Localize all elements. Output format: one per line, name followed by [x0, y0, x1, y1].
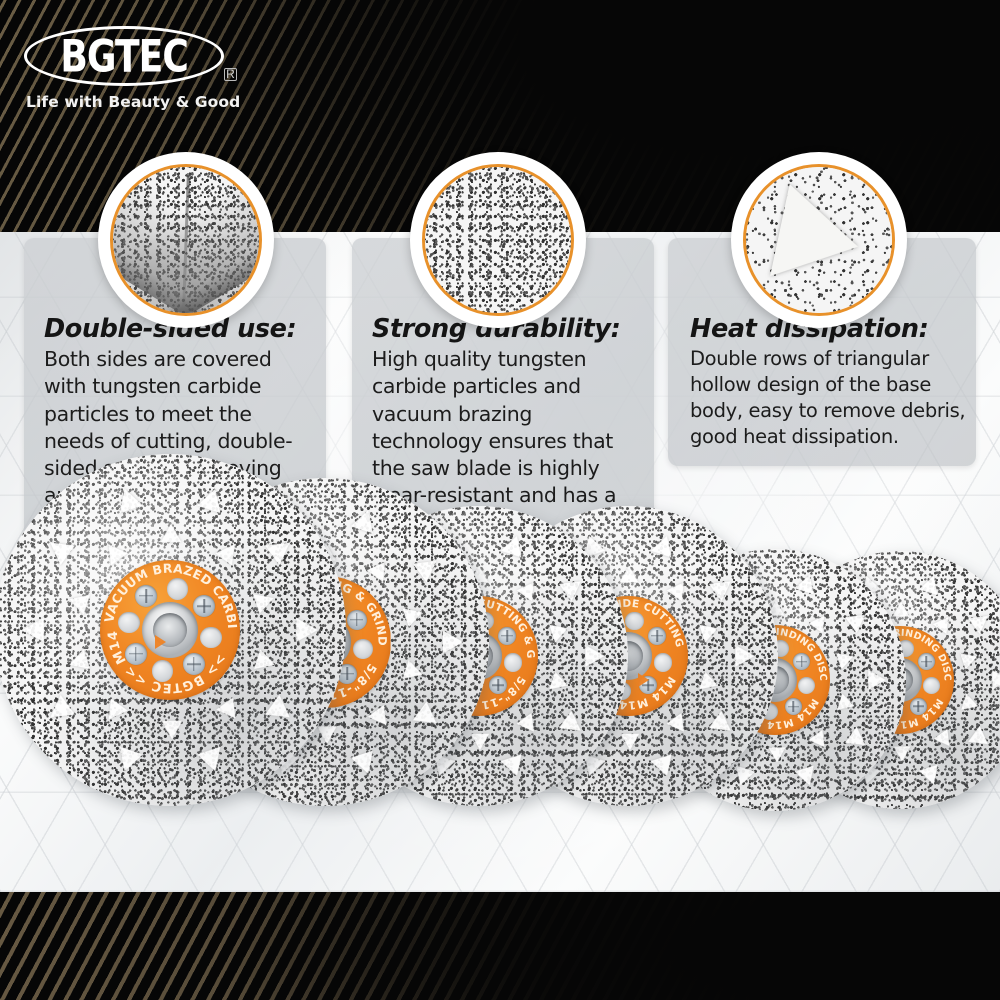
triangular-vent — [296, 618, 318, 642]
triangular-vent — [735, 645, 754, 667]
brand-logo: BGTEC R Life with Beauty & Good — [24, 26, 244, 111]
hub-screw — [347, 610, 367, 630]
hub-screw — [125, 643, 147, 665]
triangular-vent — [22, 618, 44, 642]
triangular-vent — [585, 645, 604, 667]
disc-5in-m14: VACUUM BRAZED CARBIDE CUTTING & GRINDING… — [0, 454, 346, 806]
rotation-direction-arrow-icon — [638, 673, 649, 687]
triangular-vent — [894, 746, 911, 761]
closeup-ring — [743, 164, 895, 316]
hub-screw — [918, 653, 935, 670]
infographic-canvas: BGTEC R Life with Beauty & Good Double-s… — [0, 0, 1000, 1000]
arbor-bore-flange — [142, 602, 198, 658]
logo-ellipse-frame: BGTEC R — [24, 26, 224, 86]
closeup-double-sided-blade-edges — [98, 152, 274, 328]
footer-band — [0, 892, 1000, 1000]
hub-vent-hole — [504, 653, 523, 672]
triangular-vent — [893, 602, 910, 617]
hub-vent-hole — [152, 660, 174, 682]
brand-tagline: Life with Beauty & Good — [26, 93, 244, 111]
triangular-vent — [161, 524, 182, 542]
triangular-vent — [317, 727, 337, 745]
hub-vent-hole — [923, 677, 940, 694]
triangular-vent — [443, 630, 464, 653]
triangular-vent — [162, 721, 183, 739]
closeup-ring — [422, 164, 574, 316]
triangular-vent — [621, 733, 640, 750]
hub-screw — [135, 585, 157, 607]
triangular-vent — [992, 670, 1000, 689]
closeup-carbide-grit-surface — [410, 152, 586, 328]
closeup-ring — [110, 164, 262, 316]
hub-vent-hole — [625, 612, 644, 631]
hub-vent-hole — [200, 627, 222, 649]
footer-stripe-fade-2 — [0, 892, 1000, 1000]
closeup-triangular-hollow-vent — [731, 152, 907, 328]
triangular-vent — [868, 670, 886, 690]
triangular-vent — [620, 565, 639, 582]
carbide-grit-texture — [422, 164, 574, 316]
rotation-direction-arrow-icon — [155, 635, 166, 649]
hub-vent-hole — [167, 578, 189, 600]
registered-trademark-icon: R — [224, 68, 237, 81]
orange-hub: VACUUM BRAZED CARBIDE CUTTING & GRINDING… — [100, 560, 241, 701]
hub-screw — [183, 653, 205, 675]
hub-vent-hole — [654, 653, 673, 672]
triangular-vent — [769, 747, 786, 762]
logo-wordmark: BGTEC — [60, 34, 188, 79]
triangular-vent — [471, 733, 490, 750]
hub-screw — [910, 698, 927, 715]
product-disc-row: VACUUM BRAZED CARBIDE CUTTING & GRINDING… — [0, 232, 1000, 892]
